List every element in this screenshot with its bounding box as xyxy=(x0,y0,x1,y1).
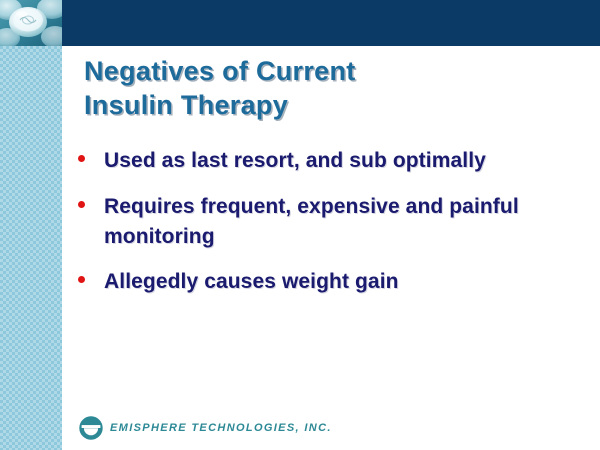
bullet-marker-icon xyxy=(78,267,104,283)
slide-canvas: Negatives of Current Insulin Therapy Use… xyxy=(0,0,600,450)
pill-tablets-photo-icon xyxy=(0,0,62,46)
company-name-label: EMISPHERE TECHNOLOGIES, INC. xyxy=(110,422,332,434)
list-item-label: Used as last resort, and sub optimally xyxy=(104,146,578,176)
pill-tablets-photo xyxy=(0,0,62,46)
title-banner xyxy=(62,0,600,46)
list-item: Allegedly causes weight gain xyxy=(78,267,578,297)
list-item-label: Allegedly causes weight gain xyxy=(104,267,578,297)
emisphere-bowl-logo-icon xyxy=(79,416,103,440)
checkered-texture-band xyxy=(0,46,62,450)
list-item: Requires frequent, expensive and painful… xyxy=(78,192,578,252)
bullet-list: Used as last resort, and sub optimally R… xyxy=(78,146,578,313)
list-item: Used as last resort, and sub optimally xyxy=(78,146,578,176)
footer-logo: EMISPHERE TECHNOLOGIES, INC. xyxy=(79,416,332,440)
list-item-label: Requires frequent, expensive and painful… xyxy=(104,192,578,252)
bullet-marker-icon xyxy=(78,146,104,162)
bullet-marker-icon xyxy=(78,192,104,208)
page-title: Negatives of Current Insulin Therapy xyxy=(84,54,554,122)
